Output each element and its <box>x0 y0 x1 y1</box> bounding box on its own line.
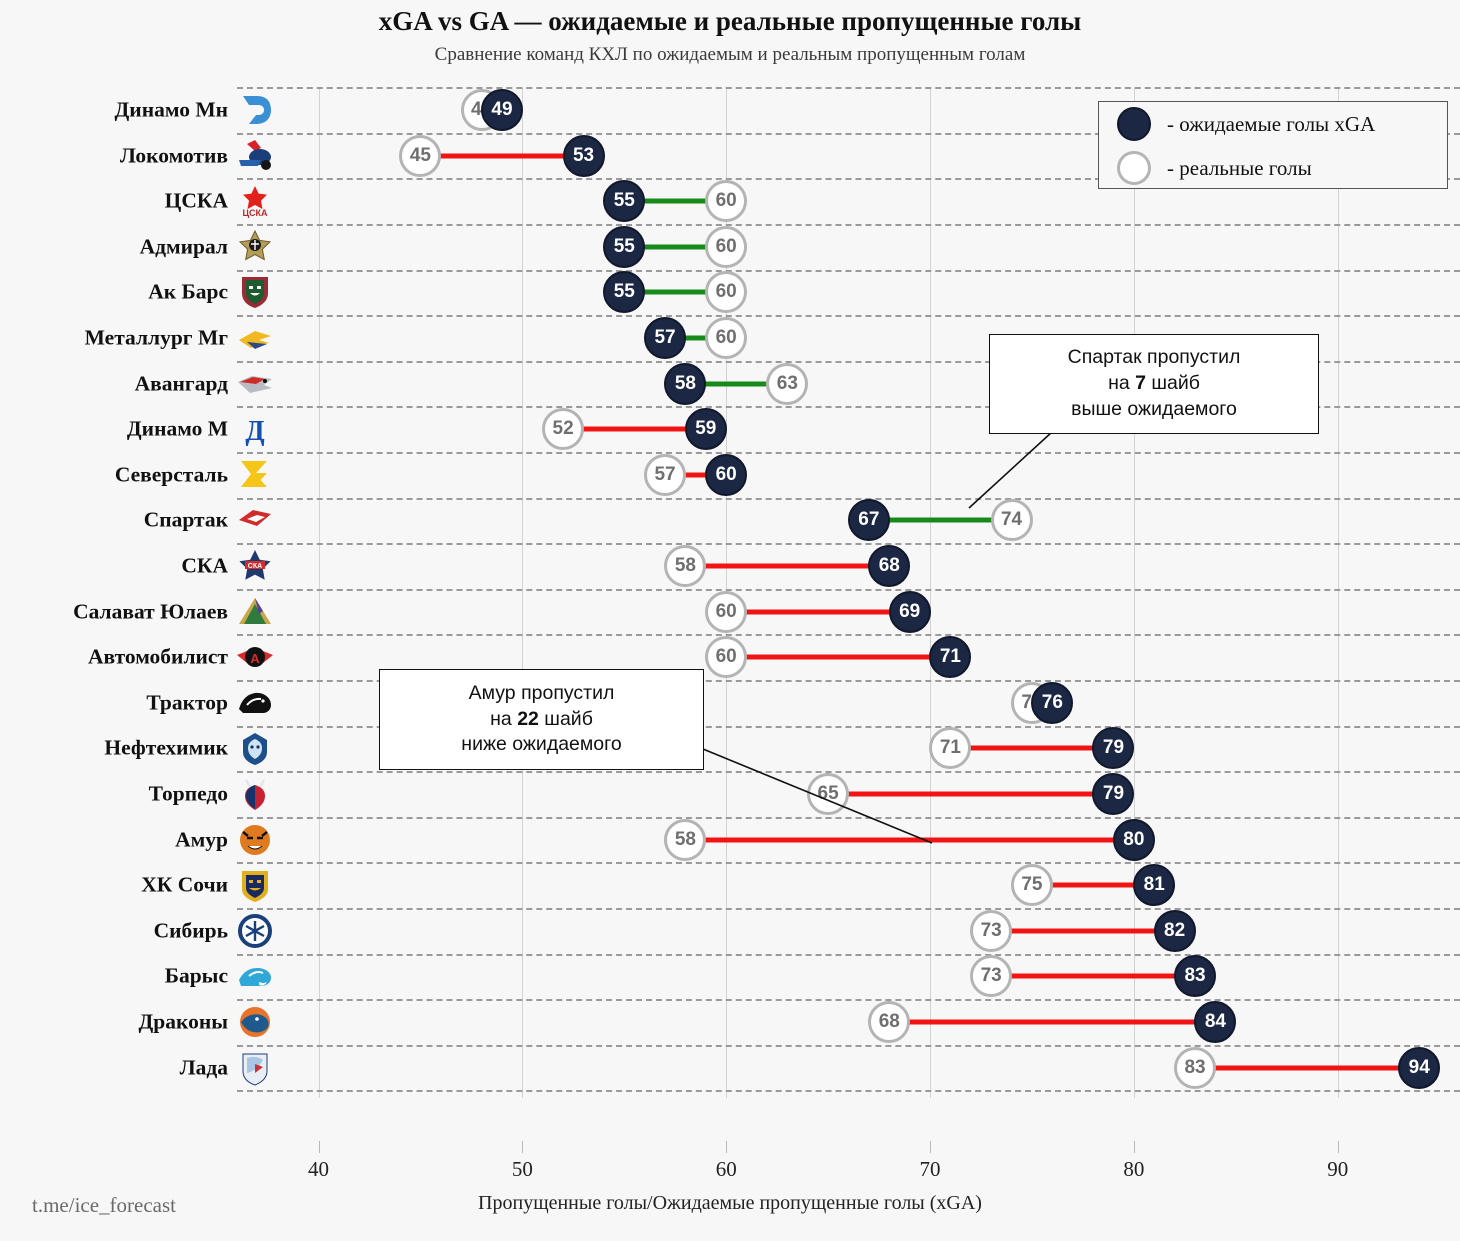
ga-marker-admiral[interactable]: 60 <box>705 226 747 268</box>
team-logo-ak-bars-icon <box>231 272 279 312</box>
x-tick <box>522 1141 523 1153</box>
x-gridline <box>1338 88 1339 1098</box>
team-label-dynamo-m: Динамо М <box>127 417 228 442</box>
x-tick <box>930 1141 931 1153</box>
team-label-sochi: ХК Сочи <box>141 873 228 898</box>
row-separator <box>237 498 1460 500</box>
team-logo-sibir-icon <box>231 911 279 951</box>
connector-line <box>991 974 1195 979</box>
annotation-spartak-line3: выше ожидаемого <box>1071 397 1237 423</box>
team-label-lada: Лада <box>180 1055 228 1080</box>
team-label-dynamo-mn: Динамо Мн <box>115 98 228 123</box>
team-logo-traktor-icon <box>231 683 279 723</box>
team-label-amur: Амур <box>175 827 228 852</box>
connector-line <box>1195 1065 1419 1070</box>
ga-marker-barys[interactable]: 73 <box>970 955 1012 997</box>
chart-plot-area: Динамо Мн4849Локомотив4553ЦСКАЦСКА6055Ад… <box>237 88 1460 1098</box>
team-label-neftekhimik: Нефтехимик <box>104 736 228 761</box>
xga-marker-spartak[interactable]: 67 <box>848 499 890 541</box>
ga-marker-lokomotiv[interactable]: 45 <box>399 135 441 177</box>
team-label-traktor: Трактор <box>146 690 228 715</box>
xga-marker-avtomobilist[interactable]: 71 <box>929 636 971 678</box>
team-logo-drakony-icon <box>231 1002 279 1042</box>
annotation-amur: Амур пропустил на 22 шайб ниже ожидаемог… <box>379 669 704 770</box>
x-gridline <box>522 88 523 1098</box>
team-logo-barys-icon <box>231 956 279 996</box>
x-gridline <box>930 88 931 1098</box>
xga-marker-ak-bars[interactable]: 55 <box>603 271 645 313</box>
connector-line <box>828 792 1113 797</box>
ga-marker-sochi[interactable]: 75 <box>1011 864 1053 906</box>
xga-marker-ska[interactable]: 68 <box>868 545 910 587</box>
row-separator <box>237 999 1460 1001</box>
ga-marker-salavat[interactable]: 60 <box>705 591 747 633</box>
team-logo-neftekhimik-icon <box>231 728 279 768</box>
team-logo-admiral-icon <box>231 227 279 267</box>
row-separator <box>237 1045 1460 1047</box>
xga-marker-admiral[interactable]: 55 <box>603 226 645 268</box>
team-logo-metallurg-icon <box>231 318 279 358</box>
row-separator <box>237 270 1460 272</box>
ga-marker-lada[interactable]: 83 <box>1174 1047 1216 1089</box>
legend-item-ga: - реальные голы <box>1099 146 1447 190</box>
row-separator <box>237 908 1460 910</box>
row-separator <box>237 589 1460 591</box>
annotation-spartak-value: 7 <box>1135 372 1146 394</box>
team-logo-amur-icon <box>231 820 279 860</box>
svg-text:Д: Д <box>245 416 264 447</box>
ga-marker-amur[interactable]: 58 <box>664 819 706 861</box>
annotation-spartak: Спартак пропустил на 7 шайб выше ожидаем… <box>989 334 1319 434</box>
annotation-spartak-line1: Спартак пропустил <box>1068 345 1241 371</box>
x-tick-label: 70 <box>920 1157 941 1182</box>
x-tick-label: 50 <box>512 1157 533 1182</box>
ga-marker-torpedo[interactable]: 65 <box>807 773 849 815</box>
x-tick <box>1338 1141 1339 1153</box>
team-logo-salavat-icon <box>231 592 279 632</box>
team-logo-avangard-icon <box>231 364 279 404</box>
connector-line <box>420 153 583 158</box>
xga-marker-drakony[interactable]: 84 <box>1194 1001 1236 1043</box>
team-label-severstal: Северсталь <box>115 462 228 487</box>
xga-marker-metallurg[interactable]: 57 <box>644 317 686 359</box>
team-logo-torpedo-icon <box>231 774 279 814</box>
row-separator <box>237 315 1460 317</box>
row-separator <box>237 543 1460 545</box>
ga-marker-dynamo-m[interactable]: 52 <box>542 408 584 450</box>
ga-marker-sibir[interactable]: 73 <box>970 910 1012 952</box>
ga-marker-drakony[interactable]: 68 <box>868 1001 910 1043</box>
x-tick <box>319 1141 320 1153</box>
x-gridline <box>1134 88 1135 1098</box>
annotation-amur-line2-pre: на <box>490 708 517 730</box>
x-tick <box>726 1141 727 1153</box>
annotation-amur-line2: на 22 шайб <box>490 707 593 733</box>
xga-marker-cska[interactable]: 55 <box>603 180 645 222</box>
chart-legend: - ожидаемые голы xGA - реальные голы <box>1098 101 1448 189</box>
xga-marker-barys[interactable]: 83 <box>1174 955 1216 997</box>
team-logo-ska-icon: СКА <box>231 546 279 586</box>
ga-marker-metallurg[interactable]: 60 <box>705 317 747 359</box>
team-logo-dynamo-m-icon: Д <box>231 409 279 449</box>
x-tick-label: 90 <box>1327 1157 1348 1182</box>
team-label-admiral: Адмирал <box>140 234 228 259</box>
team-label-lokomotiv: Локомотив <box>120 143 228 168</box>
row-separator <box>237 87 1460 89</box>
connector-line <box>950 746 1113 751</box>
ga-marker-severstal[interactable]: 57 <box>644 454 686 496</box>
ga-marker-ska[interactable]: 58 <box>664 545 706 587</box>
xga-marker-salavat[interactable]: 69 <box>889 591 931 633</box>
x-tick-label: 80 <box>1123 1157 1144 1182</box>
row-separator <box>237 452 1460 454</box>
team-label-sibir: Сибирь <box>154 918 228 943</box>
row-separator <box>237 954 1460 956</box>
x-tick-label: 60 <box>716 1157 737 1182</box>
team-logo-spartak-icon <box>231 500 279 540</box>
legend-label-ga: - реальные голы <box>1167 156 1312 181</box>
legend-label-xga: - ожидаемые голы xGA <box>1167 112 1375 137</box>
connector-line <box>991 928 1174 933</box>
xga-marker-dynamo-m[interactable]: 59 <box>685 408 727 450</box>
annotation-spartak-line2-post: шайб <box>1146 372 1200 394</box>
annotation-amur-line1: Амур пропустил <box>469 681 615 707</box>
team-label-avangard: Авангард <box>135 371 228 396</box>
x-tick <box>1134 1141 1135 1153</box>
xga-marker-sochi[interactable]: 81 <box>1133 864 1175 906</box>
team-logo-severstal-icon <box>231 455 279 495</box>
xga-marker-amur[interactable]: 80 <box>1113 819 1155 861</box>
team-logo-dynamo-mn-icon <box>231 90 279 130</box>
team-label-drakony: Драконы <box>138 1010 228 1035</box>
page-subtitle: Сравнение команд КХЛ по ожидаемым и реал… <box>0 44 1460 66</box>
row-separator <box>237 634 1460 636</box>
annotation-spartak-line2-pre: на <box>1108 372 1135 394</box>
team-label-torpedo: Торпедо <box>149 782 228 807</box>
team-logo-sochi-icon <box>231 865 279 905</box>
xga-marker-severstal[interactable]: 60 <box>705 454 747 496</box>
team-logo-lokomotiv-icon <box>231 136 279 176</box>
ga-marker-neftekhimik[interactable]: 71 <box>929 727 971 769</box>
row-separator <box>237 817 1460 819</box>
legend-item-xga: - ожидаемые голы xGA <box>1099 102 1447 146</box>
annotation-amur-line3: ниже ожидаемого <box>461 732 621 758</box>
xga-marker-lada[interactable]: 94 <box>1398 1047 1440 1089</box>
legend-swatch-ga-icon <box>1117 151 1151 185</box>
svg-text:A: A <box>250 651 260 666</box>
team-label-ska: СКА <box>181 554 228 579</box>
ga-marker-spartak[interactable]: 74 <box>991 499 1033 541</box>
x-gridline <box>319 88 320 1098</box>
row-separator <box>237 862 1460 864</box>
ga-marker-avangard[interactable]: 63 <box>766 363 808 405</box>
team-label-salavat: Салават Юлаев <box>73 599 228 624</box>
svg-text:ЦСКА: ЦСКА <box>242 208 268 218</box>
annotation-spartak-line2: на 7 шайб <box>1108 371 1200 397</box>
connector-line <box>726 655 950 660</box>
team-label-metallurg: Металлург Мг <box>85 326 228 351</box>
team-logo-lada-icon <box>231 1048 279 1088</box>
connector-line <box>726 609 909 614</box>
chart-x-axis: 405060708090 <box>0 1141 1460 1187</box>
xga-marker-torpedo[interactable]: 79 <box>1092 773 1134 815</box>
xga-marker-neftekhimik[interactable]: 79 <box>1092 727 1134 769</box>
x-tick-label: 40 <box>308 1157 329 1182</box>
team-label-avtomobilist: Автомобилист <box>88 645 228 670</box>
ga-marker-ak-bars[interactable]: 60 <box>705 271 747 313</box>
team-label-barys: Барыс <box>165 964 228 989</box>
annotation-amur-value: 22 <box>517 708 539 730</box>
connector-line <box>685 837 1133 842</box>
team-label-ak-bars: Ак Барс <box>148 280 228 305</box>
ga-marker-avtomobilist[interactable]: 60 <box>705 636 747 678</box>
team-logo-cska-icon: ЦСКА <box>231 181 279 221</box>
xga-marker-avangard[interactable]: 58 <box>664 363 706 405</box>
ga-marker-cska[interactable]: 60 <box>705 180 747 222</box>
team-label-spartak: Спартак <box>144 508 228 533</box>
connector-line <box>889 1020 1215 1025</box>
team-label-cska: ЦСКА <box>165 189 228 214</box>
x-axis-title: Пропущенные голы/Ожидаемые пропущенные г… <box>0 1192 1460 1215</box>
row-separator <box>237 224 1460 226</box>
page-title: xGA vs GA — ожидаемые и реальные пропуще… <box>0 6 1460 37</box>
xga-marker-sibir[interactable]: 82 <box>1154 910 1196 952</box>
annotation-amur-line2-post: шайб <box>539 708 593 730</box>
legend-swatch-xga-icon <box>1117 107 1151 141</box>
row-separator <box>237 1090 1460 1092</box>
watermark: t.me/ice_forecast <box>32 1193 176 1218</box>
connector-line <box>685 564 889 569</box>
row-separator <box>237 771 1460 773</box>
xga-marker-dynamo-mn[interactable]: 49 <box>481 89 523 131</box>
svg-text:СКА: СКА <box>248 563 262 570</box>
xga-marker-lokomotiv[interactable]: 53 <box>563 135 605 177</box>
team-logo-avtomobilist-icon: A <box>231 637 279 677</box>
xga-marker-traktor[interactable]: 76 <box>1031 682 1073 724</box>
